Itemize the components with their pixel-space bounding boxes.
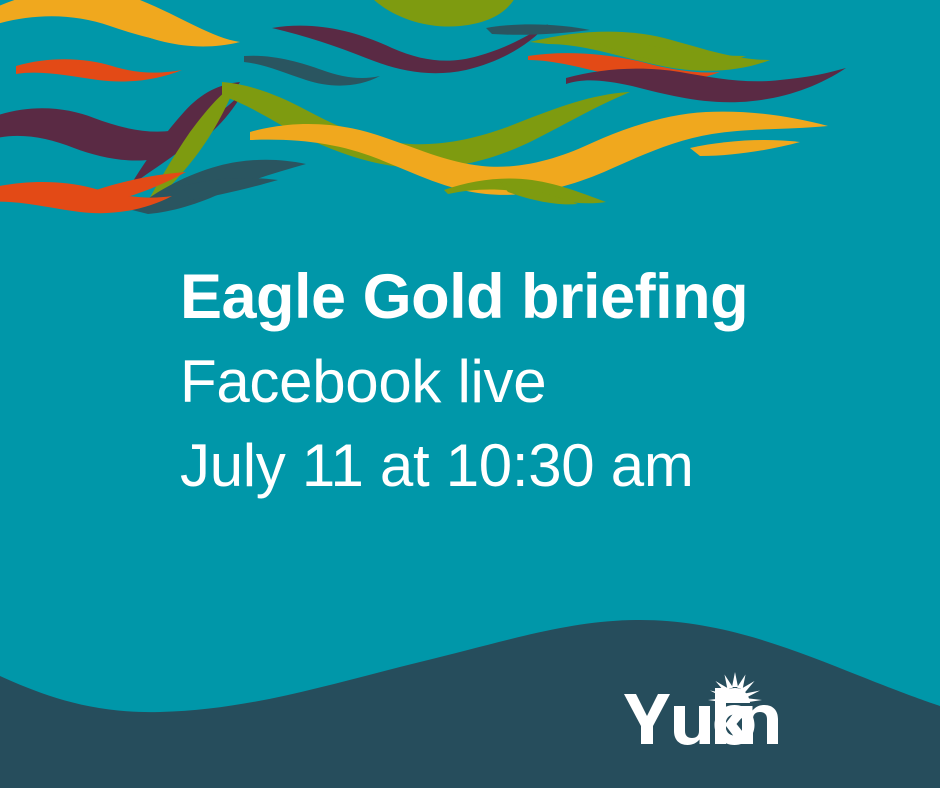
social-media-poster: Eagle Gold briefing Facebook live July 1… bbox=[0, 0, 940, 788]
yukon-wordmark bbox=[624, 688, 778, 745]
poster-text-block: Eagle Gold briefing Facebook live July 1… bbox=[180, 266, 880, 496]
poster-platform: Facebook live bbox=[180, 352, 880, 412]
poster-datetime: July 11 at 10:30 am bbox=[180, 436, 880, 496]
poster-title: Eagle Gold briefing bbox=[180, 266, 880, 329]
yukon-logo bbox=[622, 668, 782, 746]
bottom-navy-wave-shape bbox=[0, 620, 940, 788]
